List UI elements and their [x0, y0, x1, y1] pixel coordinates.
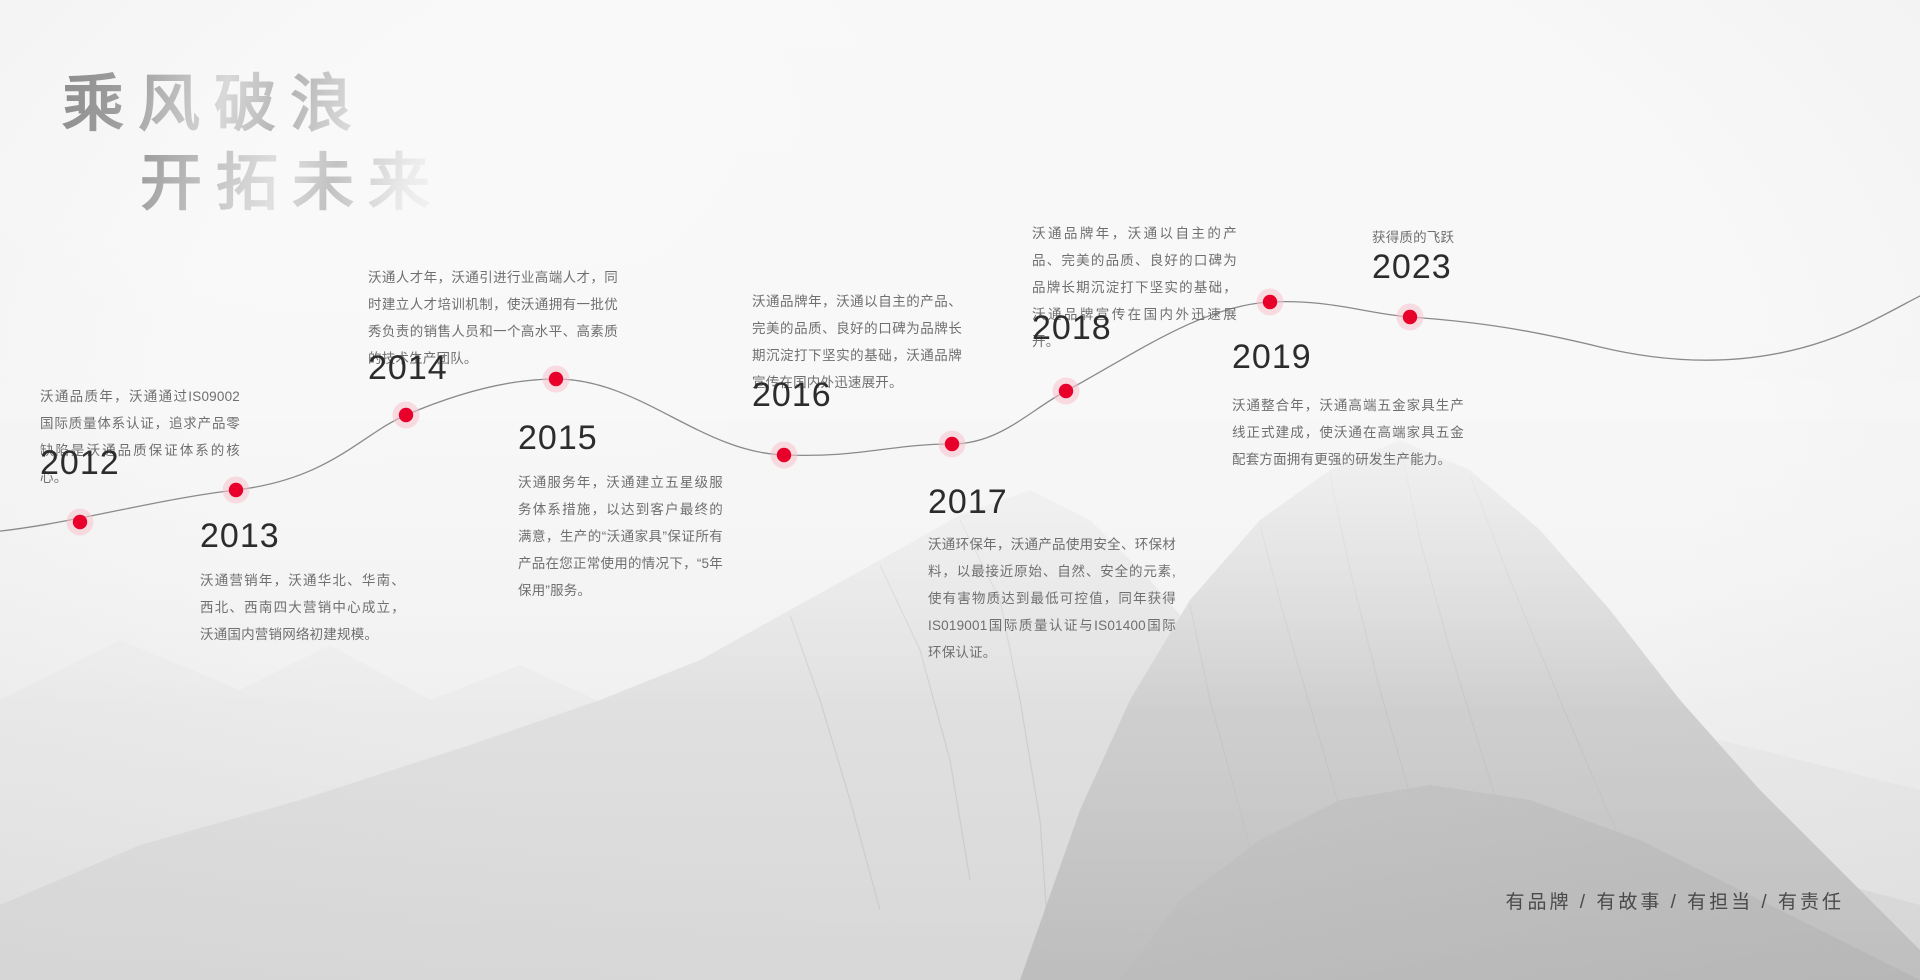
timeline-dot-halo — [771, 442, 798, 469]
milestone-year-2017: 2017 — [928, 484, 1008, 521]
timeline-dot-halo — [1257, 289, 1284, 316]
milestone-year-2013: 2013 — [200, 518, 280, 555]
milestone-year-2019: 2019 — [1232, 339, 1312, 376]
timeline-dot-2017[interactable] — [945, 437, 959, 451]
timeline-dot-2012[interactable] — [73, 515, 87, 529]
infographic-canvas: 乘风破浪 开拓未来 沃通品质年，沃通通过IS09002国际质量体系认证，追求产品… — [0, 0, 1920, 980]
timeline-dot-halo — [1397, 304, 1424, 331]
timeline-dot-2014[interactable] — [399, 408, 413, 422]
timeline-dot-halo — [1053, 378, 1080, 405]
footer-slogan: 有品牌 / 有故事 / 有担当 / 有责任 — [1505, 887, 1844, 914]
milestone-year-2018: 2018 — [1032, 310, 1112, 347]
milestone-year-2016: 2016 — [752, 377, 832, 414]
milestone-description-2015: 沃通服务年，沃通建立五星级服务体系措施，以达到客户最终的满意，生产的“沃通家具”… — [518, 469, 723, 604]
timeline-dot-2016[interactable] — [777, 448, 791, 462]
mountain-far-ridge — [0, 640, 1920, 980]
milestone-description-2019: 沃通整合年，沃通高端五金家具生产线正式建成，使沃通在高端家具五金配套方面拥有更强… — [1232, 392, 1464, 473]
timeline-dot-halo — [939, 431, 966, 458]
milestone-year-2015: 2015 — [518, 420, 598, 457]
mountain-foreground-shadow — [1120, 785, 1920, 980]
title-line-1: 乘风破浪 — [62, 66, 444, 145]
timeline-dot-2015[interactable] — [549, 372, 563, 386]
milestone-description-2017: 沃通环保年，沃通产品使用安全、环保材料，以最接近原始、自然、安全的元素,使有害物… — [928, 531, 1176, 666]
timeline-dot-2018[interactable] — [1059, 384, 1073, 398]
milestone-year-2012: 2012 — [40, 445, 120, 482]
timeline-dot-halo — [67, 509, 94, 536]
timeline-dot-2023[interactable] — [1403, 310, 1417, 324]
milestone-year-2023: 2023 — [1372, 249, 1452, 286]
timeline-dot-2019[interactable] — [1263, 295, 1277, 309]
title-line-2: 开拓未来 — [140, 145, 444, 224]
milestone-year-2014: 2014 — [368, 350, 448, 387]
ridge-detail-lines — [790, 445, 1620, 960]
timeline-dot-halo — [393, 402, 420, 429]
milestone-description-2013: 沃通营销年，沃通华北、华南、西北、西南四大营销中心成立，沃通国内营销网络初建规模… — [200, 567, 405, 648]
milestone-description-2023: 获得质的飞跃 — [1372, 224, 1572, 251]
page-title: 乘风破浪 开拓未来 — [62, 66, 444, 225]
